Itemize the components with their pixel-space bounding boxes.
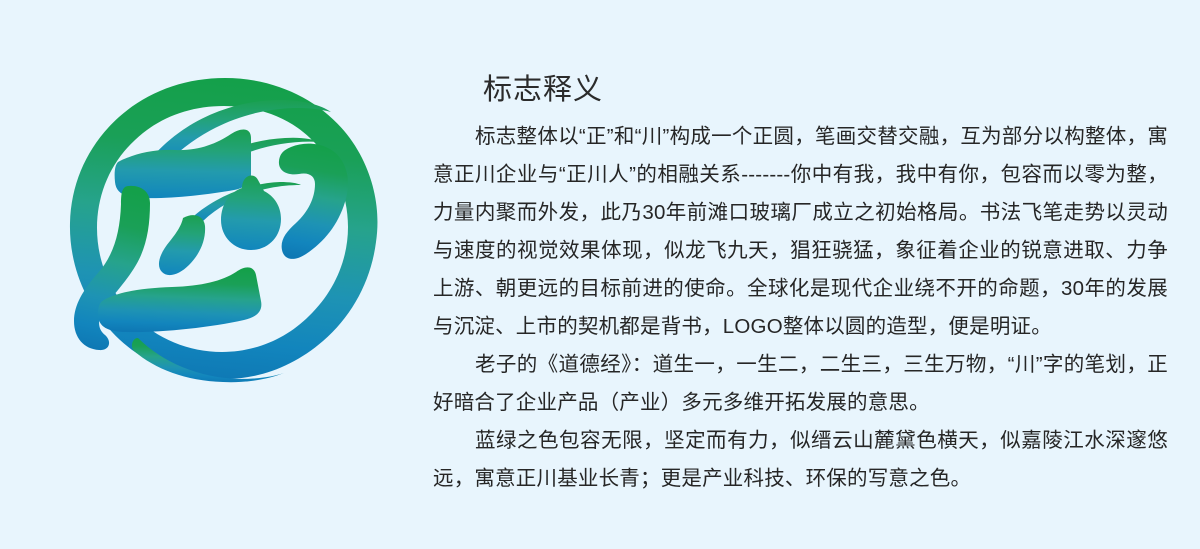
company-logo [58,62,388,392]
paragraph-1: 标志整体以“正”和“川”构成一个正圆，笔画交替交融，互为部分以构整体，寓意正川企… [433,118,1168,346]
page-title: 标志释义 [483,70,1168,110]
paragraph-3: 蓝绿之色包容无限，坚定而有力，似缙云山麓黛色横天，似嘉陵江水深邃悠远，寓意正川基… [433,422,1168,498]
logo-description-page: 标志释义 标志整体以“正”和“川”构成一个正圆，笔画交替交融，互为部分以构整体，… [0,0,1200,549]
zhengchuan-logo-icon [58,62,388,392]
description-block: 标志释义 标志整体以“正”和“川”构成一个正圆，笔画交替交融，互为部分以构整体，… [433,70,1168,498]
paragraph-2: 老子的《道德经》：道生一，一生二，二生三，三生万物，“川”字的笔划，正好暗合了企… [433,346,1168,422]
